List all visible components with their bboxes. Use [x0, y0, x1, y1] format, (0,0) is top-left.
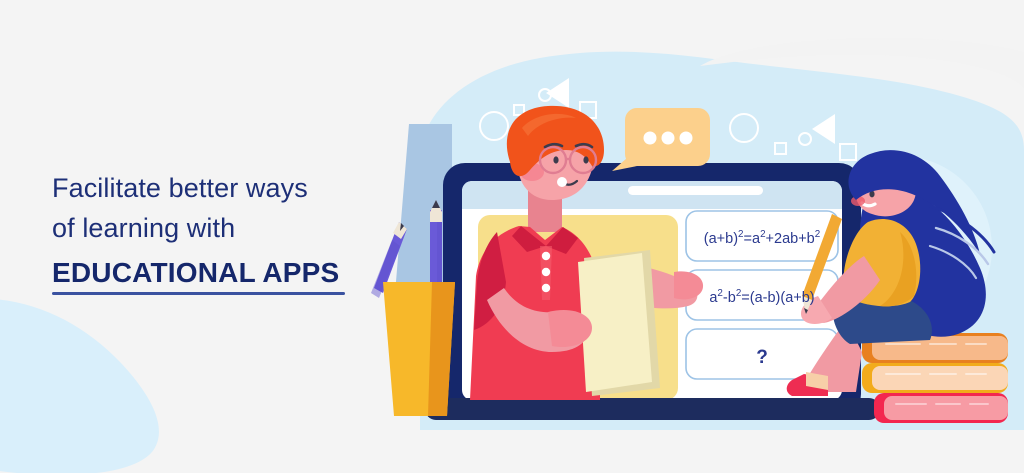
book-stack	[862, 333, 1008, 423]
speech-bubble	[612, 108, 710, 171]
book-middle-pages	[872, 366, 1008, 390]
formula-text-2: a2-b2=(a-b)(a+b)	[689, 288, 835, 306]
speech-dot-2	[662, 132, 675, 145]
headline-line-1: Facilitate better ways	[52, 173, 308, 203]
book-bottom-pages	[884, 396, 1008, 420]
address-pill	[628, 186, 763, 195]
laptop-base	[425, 398, 880, 420]
page-headline: Facilitate better ways of learning with	[52, 168, 382, 248]
formula-text-1: (a+b)2=a2+2ab+b2	[689, 229, 835, 247]
speech-dot-3	[680, 132, 693, 145]
pencil-right	[430, 200, 442, 296]
speech-dot-1	[644, 132, 657, 145]
formula-text-3: ?	[689, 347, 835, 369]
headline-line-2: of learning with	[52, 213, 235, 243]
headline-emphasis: EDUCATIONAL APPS	[52, 255, 339, 291]
headline-underline	[52, 292, 345, 295]
